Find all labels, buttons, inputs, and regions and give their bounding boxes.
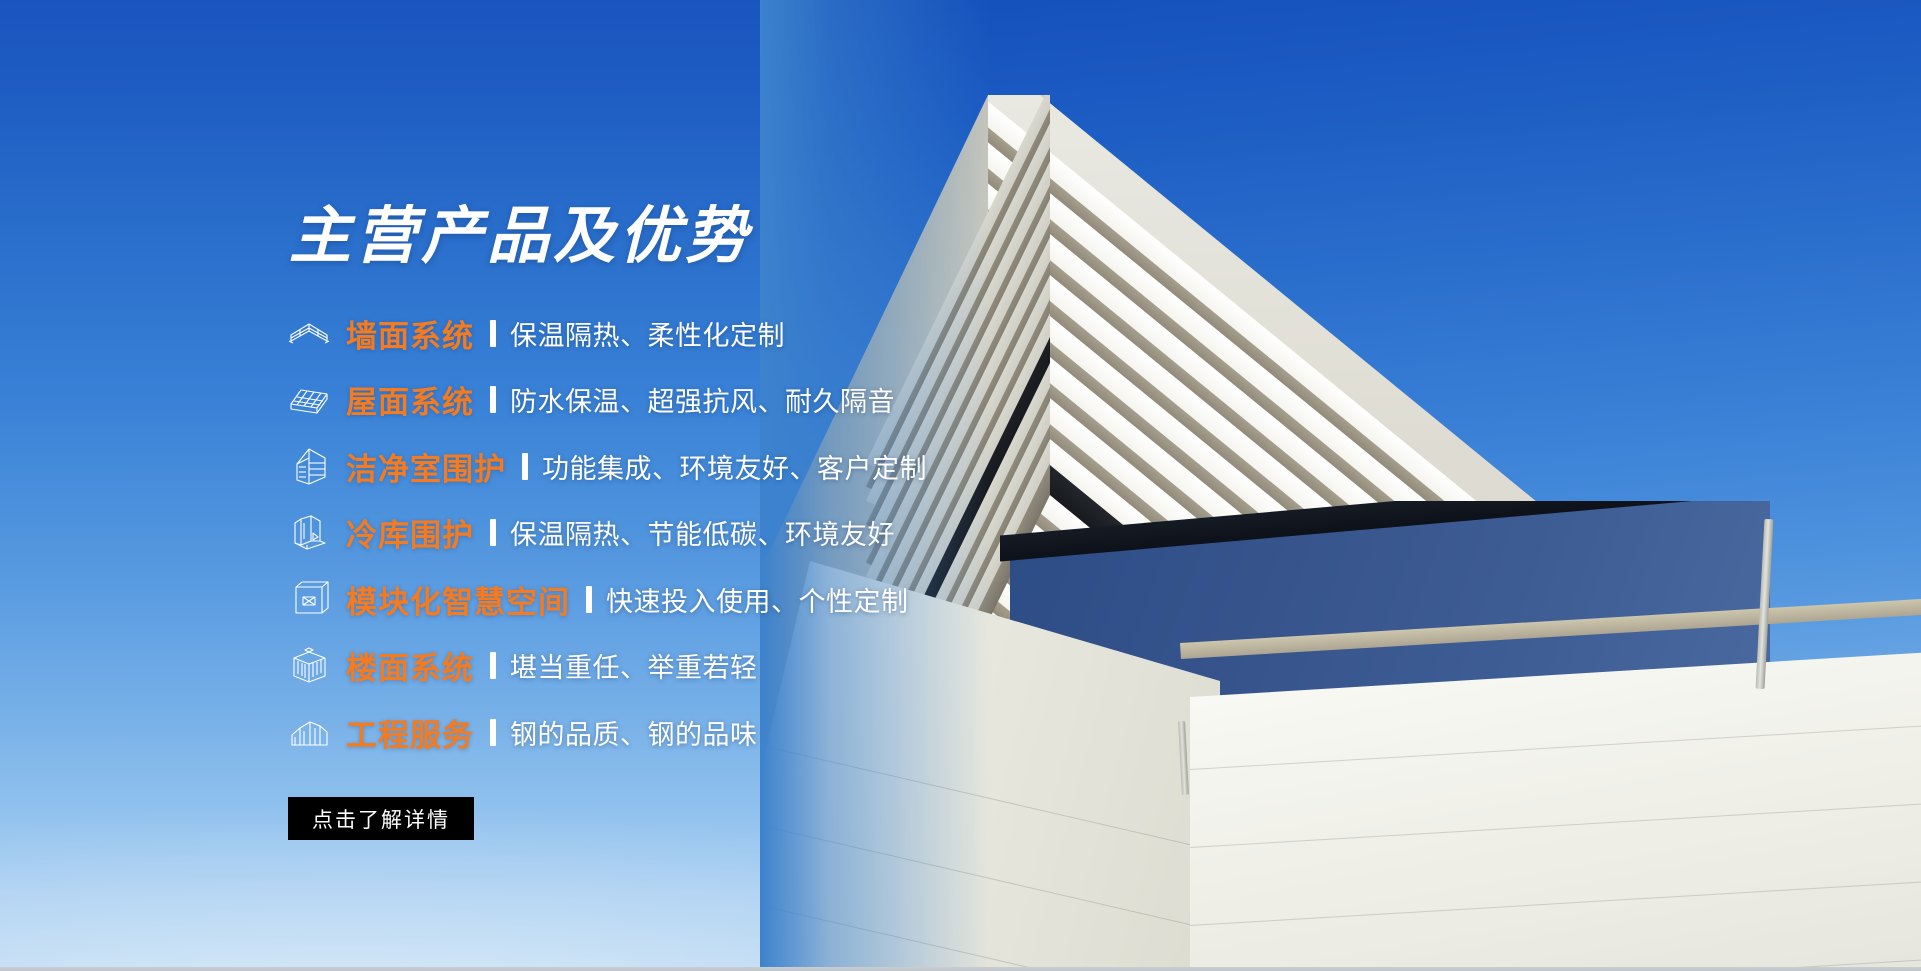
feature-description: 防水保温、超强抗风、耐久隔音	[510, 380, 895, 419]
feature-title: 楼面系统	[346, 643, 474, 688]
feature-row[interactable]: 墙面系统保温隔热、柔性化定制	[286, 300, 1086, 367]
feature-description: 保温隔热、柔性化定制	[510, 314, 785, 353]
feature-row[interactable]: 模块化智慧空间快速投入使用、个性定制	[286, 566, 1086, 633]
feature-separator-bar	[522, 453, 528, 480]
podium-white-panel-right	[1190, 651, 1921, 971]
banner-stage: 主营产品及优势 墙面系统保温隔热、柔性化定制屋面系统防水保温、超强抗风、耐久隔音…	[0, 0, 1921, 971]
feature-title: 屋面系统	[346, 377, 474, 422]
modular-smart-space-icon	[286, 576, 332, 622]
page-title: 主营产品及优势	[289, 206, 751, 268]
feature-row[interactable]: 屋面系统防水保温、超强抗风、耐久隔音	[286, 367, 1086, 434]
feature-title: 洁净室围护	[346, 444, 506, 489]
feature-title: 模块化智慧空间	[346, 577, 570, 622]
feature-title: 工程服务	[346, 710, 474, 755]
feature-description: 堪当重任、举重若轻	[510, 646, 758, 685]
bottom-edge-strip	[0, 967, 1921, 971]
feature-separator-bar	[490, 519, 496, 546]
cold-storage-enclosure-icon	[286, 510, 332, 556]
feature-description: 保温隔热、节能低碳、环境友好	[510, 513, 895, 552]
wall-system-icon	[286, 310, 332, 356]
engineering-service-icon	[286, 709, 332, 755]
feature-row[interactable]: 冷库围护保温隔热、节能低碳、环境友好	[286, 500, 1086, 567]
banner-content: 主营产品及优势 墙面系统保温隔热、柔性化定制屋面系统防水保温、超强抗风、耐久隔音…	[0, 0, 1100, 971]
feature-description: 钢的品质、钢的品味	[510, 713, 758, 752]
feature-row[interactable]: 洁净室围护功能集成、环境友好、客户定制	[286, 433, 1086, 500]
feature-title: 冷库围护	[346, 510, 474, 555]
feature-row[interactable]: 楼面系统堪当重任、举重若轻	[286, 633, 1086, 700]
feature-separator-bar	[490, 386, 496, 413]
feature-list: 墙面系统保温隔热、柔性化定制屋面系统防水保温、超强抗风、耐久隔音洁净室围护功能集…	[286, 300, 1086, 766]
feature-separator-bar	[490, 652, 496, 679]
feature-separator-bar	[490, 320, 496, 347]
roof-system-icon	[286, 377, 332, 423]
floor-system-icon	[286, 643, 332, 689]
feature-separator-bar	[586, 586, 592, 613]
feature-description: 快速投入使用、个性定制	[606, 580, 909, 619]
cleanroom-enclosure-icon	[286, 443, 332, 489]
learn-more-button[interactable]: 点击了解详情	[288, 797, 474, 840]
feature-separator-bar	[490, 719, 496, 746]
feature-description: 功能集成、环境友好、客户定制	[542, 447, 927, 486]
feature-row[interactable]: 工程服务钢的品质、钢的品味	[286, 699, 1086, 766]
feature-title: 墙面系统	[346, 311, 474, 356]
